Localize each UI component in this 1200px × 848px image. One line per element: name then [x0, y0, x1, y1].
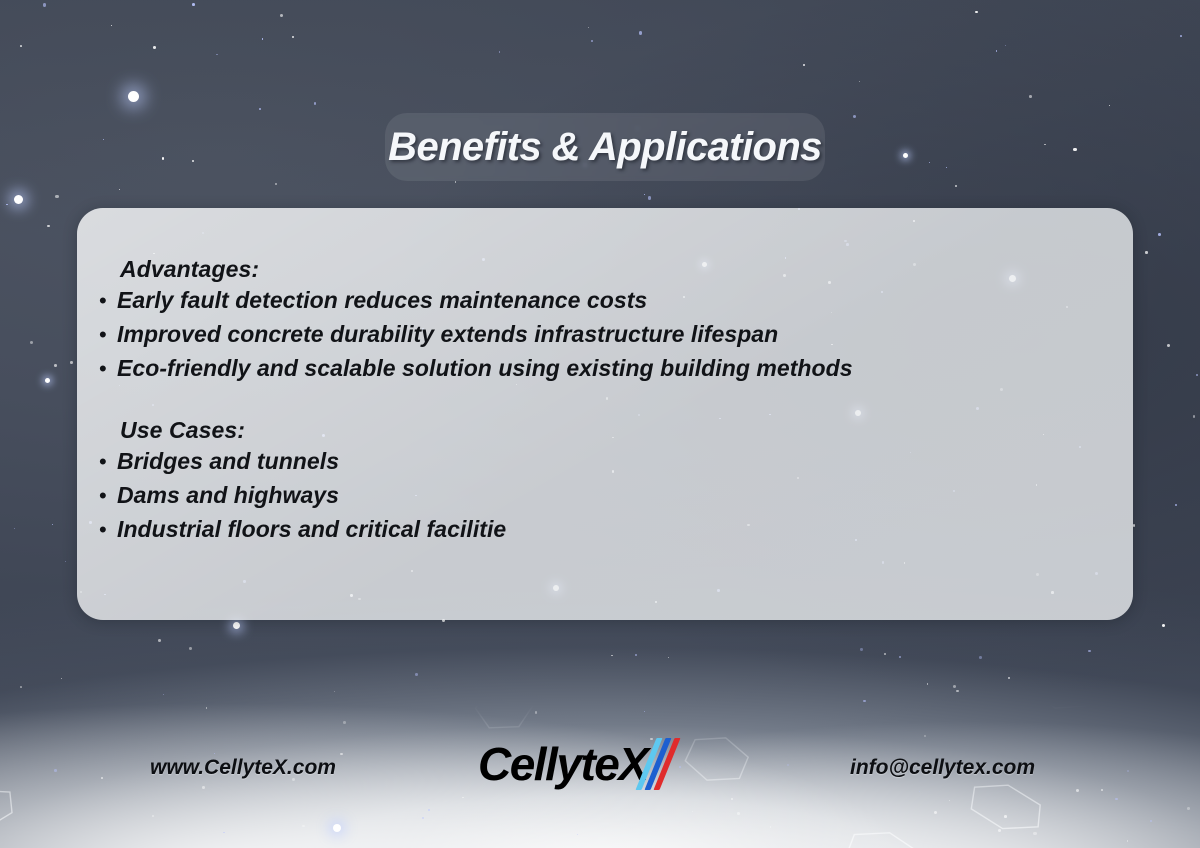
- star-dot: [262, 38, 264, 40]
- star-dot: [1005, 45, 1007, 47]
- star-dot: [1162, 624, 1165, 627]
- list-item: •Early fault detection reduces maintenan…: [99, 287, 1133, 321]
- star-dot: [163, 694, 164, 695]
- star-dot: [934, 811, 937, 814]
- star-dot: [692, 811, 694, 813]
- star-dot: [956, 690, 958, 692]
- star-dot: [1196, 374, 1198, 376]
- star-dot: [737, 812, 740, 815]
- star-dot: [275, 183, 277, 185]
- star-dot: [863, 700, 865, 702]
- star-dot: [770, 826, 772, 828]
- star-dot: [1150, 820, 1152, 822]
- list-item: •Bridges and tunnels: [99, 448, 1133, 482]
- slide-canvas: Benefits & Applications Advantages:•Earl…: [0, 0, 1200, 848]
- section-heading: Advantages:: [120, 256, 1133, 283]
- cellytex-logo: CellyteX: [478, 738, 676, 790]
- bullet-dot-icon: •: [99, 451, 117, 473]
- star-dot: [1101, 789, 1103, 791]
- star-dot: [1044, 144, 1045, 145]
- star-dot: [47, 225, 50, 228]
- star-dot: [334, 691, 335, 692]
- star-dot: [111, 25, 112, 26]
- star-dot: [1175, 504, 1177, 506]
- star-dot: [953, 685, 956, 688]
- star-dot: [214, 753, 215, 754]
- star-dot: [1076, 789, 1079, 792]
- star-dot: [192, 3, 195, 6]
- star-dot: [924, 735, 926, 737]
- star-dot: [611, 655, 613, 657]
- star-dot: [14, 528, 15, 529]
- star-dot: [1115, 798, 1117, 800]
- star-dot: [668, 657, 669, 658]
- star-dot: [996, 50, 997, 51]
- star-dot: [20, 45, 22, 47]
- star-dot: [259, 108, 261, 110]
- star-dot: [644, 711, 645, 712]
- star-dot: [103, 139, 104, 140]
- star-dot: [422, 817, 424, 819]
- star-dot: [853, 115, 856, 118]
- section-spacer: [77, 389, 1133, 417]
- star-dot: [101, 777, 103, 779]
- star-dot: [998, 829, 1001, 832]
- content-card: Advantages:•Early fault detection reduce…: [77, 208, 1133, 620]
- star-dot: [644, 194, 645, 195]
- star-dot: [128, 91, 139, 102]
- star-dot: [975, 11, 978, 14]
- bullet-list: •Early fault detection reduces maintenan…: [77, 287, 1133, 389]
- star-dot: [65, 561, 66, 562]
- star-dot: [499, 51, 500, 52]
- star-dot: [428, 809, 430, 811]
- star-dot: [20, 686, 22, 688]
- star-dot: [55, 195, 58, 198]
- star-dot: [45, 378, 50, 383]
- list-item: •Industrial floors and critical faciliti…: [99, 516, 1133, 550]
- page-title: Benefits & Applications: [388, 125, 822, 170]
- star-dot: [903, 153, 908, 158]
- star-dot: [1180, 35, 1182, 37]
- star-dot: [955, 185, 958, 188]
- star-dot: [639, 31, 642, 34]
- star-dot: [192, 160, 194, 162]
- card-content: Advantages:•Early fault detection reduce…: [77, 208, 1133, 550]
- star-dot: [1073, 148, 1076, 151]
- bullet-dot-icon: •: [99, 324, 117, 346]
- star-dot: [899, 656, 901, 658]
- star-dot: [162, 157, 165, 160]
- star-dot: [731, 798, 733, 800]
- star-dot: [803, 64, 805, 66]
- star-dot: [61, 678, 62, 679]
- star-dot: [202, 786, 205, 789]
- star-dot: [648, 196, 651, 199]
- footer-email[interactable]: info@cellytex.com: [850, 756, 1035, 780]
- star-dot: [206, 707, 208, 709]
- star-dot: [70, 361, 73, 364]
- list-item: •Improved concrete durability extends in…: [99, 321, 1133, 355]
- star-dot: [929, 162, 930, 163]
- star-dot: [591, 40, 593, 42]
- star-dot: [1158, 233, 1161, 236]
- star-dot: [52, 524, 54, 526]
- star-dot: [340, 753, 342, 755]
- bullet-list: •Bridges and tunnels•Dams and highways•I…: [77, 448, 1133, 550]
- star-dot: [919, 791, 920, 792]
- bullet-dot-icon: •: [99, 519, 117, 541]
- bullet-dot-icon: •: [99, 485, 117, 507]
- star-dot: [333, 824, 341, 832]
- star-dot: [314, 102, 317, 105]
- star-dot: [927, 683, 929, 685]
- star-dot: [679, 766, 681, 768]
- star-dot: [787, 764, 789, 766]
- star-dot: [860, 648, 862, 650]
- star-dot: [189, 647, 192, 650]
- list-item: •Eco-friendly and scalable solution usin…: [99, 355, 1133, 389]
- star-dot: [280, 14, 283, 17]
- page-title-pill: Benefits & Applications: [385, 113, 825, 181]
- star-dot: [415, 673, 418, 676]
- star-dot: [1109, 105, 1110, 106]
- list-item: •Dams and highways: [99, 482, 1133, 516]
- star-dot: [216, 54, 217, 55]
- list-item-label: Eco-friendly and scalable solution using…: [117, 355, 853, 382]
- star-dot: [152, 815, 154, 817]
- star-dot: [119, 189, 120, 190]
- star-dot: [343, 721, 346, 724]
- list-item-label: Industrial floors and critical facilitie: [117, 516, 506, 543]
- star-dot: [158, 639, 161, 642]
- star-dot: [635, 654, 637, 656]
- logo-slash-group: [642, 738, 676, 790]
- star-dot: [455, 181, 457, 183]
- star-dot: [979, 656, 982, 659]
- star-dot: [946, 167, 948, 169]
- star-dot: [1145, 251, 1147, 253]
- star-dot: [1033, 832, 1036, 835]
- star-dot: [6, 204, 8, 206]
- star-dot: [54, 769, 57, 772]
- footer-website[interactable]: www.CellyteX.com: [150, 756, 336, 780]
- star-dot: [153, 46, 156, 49]
- star-dot: [949, 800, 951, 802]
- star-dot: [462, 797, 463, 798]
- star-dot: [302, 825, 304, 827]
- section-heading: Use Cases:: [120, 417, 1133, 444]
- star-dot: [884, 653, 885, 654]
- logo-wordmark: CellyteX: [478, 741, 648, 787]
- star-dot: [588, 27, 589, 28]
- star-dot: [1004, 815, 1007, 818]
- star-dot: [577, 834, 578, 835]
- star-dot: [1127, 840, 1129, 842]
- star-dot: [54, 364, 57, 367]
- star-dot: [1167, 344, 1170, 347]
- list-item-label: Improved concrete durability extends inf…: [117, 321, 778, 348]
- star-dot: [859, 81, 860, 82]
- star-dot: [1127, 770, 1129, 772]
- star-dot: [30, 341, 33, 344]
- star-dot: [1008, 677, 1009, 678]
- star-dot: [1029, 95, 1032, 98]
- star-dot: [233, 622, 240, 629]
- star-dot: [535, 711, 537, 713]
- star-dot: [1088, 650, 1090, 652]
- star-dot: [14, 195, 23, 204]
- list-item-label: Early fault detection reduces maintenanc…: [117, 287, 647, 314]
- star-dot: [1187, 807, 1190, 810]
- star-dot: [1193, 415, 1195, 417]
- list-item-label: Dams and highways: [117, 482, 339, 509]
- bullet-dot-icon: •: [99, 358, 117, 380]
- list-item-label: Bridges and tunnels: [117, 448, 339, 475]
- star-dot: [292, 36, 293, 37]
- star-dot: [43, 3, 46, 6]
- bullet-dot-icon: •: [99, 290, 117, 312]
- star-dot: [223, 832, 225, 834]
